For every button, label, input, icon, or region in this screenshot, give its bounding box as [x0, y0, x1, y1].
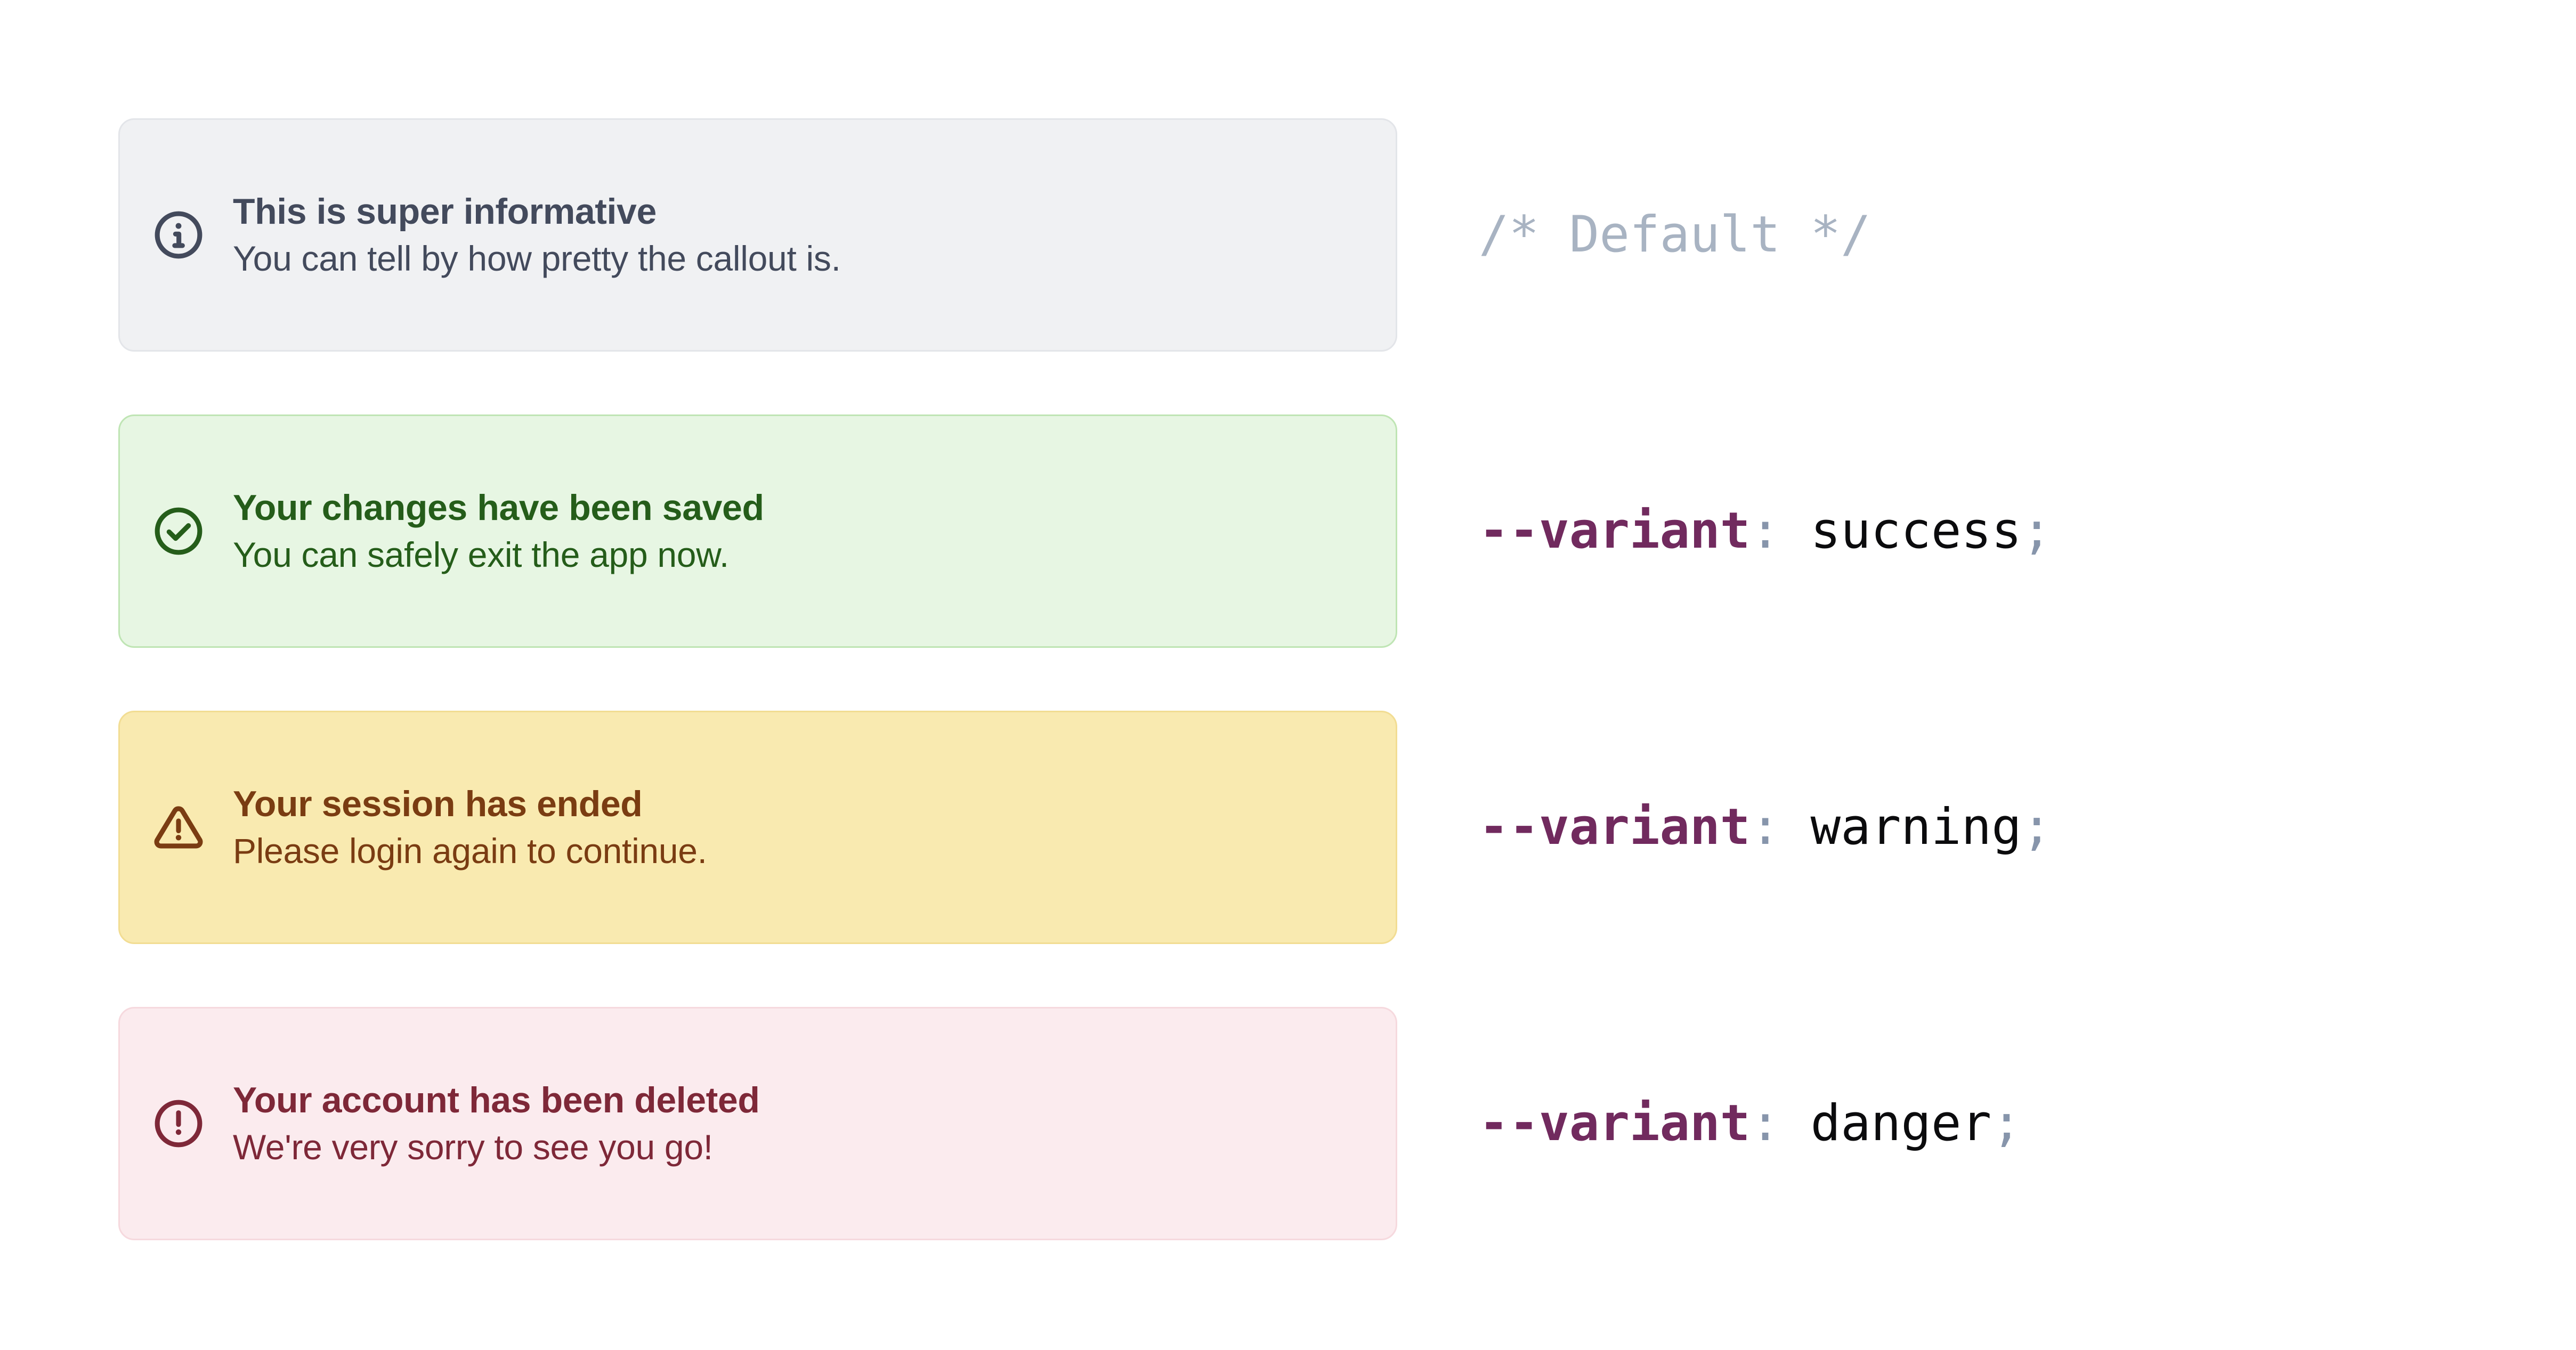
circle-check-icon [151, 503, 206, 559]
code-value: danger [1811, 1099, 1992, 1149]
callout-body: Your changes have been saved You can saf… [233, 486, 764, 576]
callout-description: Please login again to continue. [233, 829, 707, 873]
code-colon: : [1750, 1099, 1810, 1149]
circle-alert-icon [151, 1096, 206, 1151]
callout-warning: Your session has ended Please login agai… [118, 711, 1397, 944]
code-line-danger: --variant: danger; [1397, 1007, 2576, 1240]
triangle-alert-icon [151, 800, 206, 855]
code-property: --variant [1479, 506, 1750, 556]
callout-description: We're very sorry to see you go! [233, 1126, 759, 1169]
code-line-success: --variant: success; [1397, 414, 2576, 648]
callout-title: Your account has been deleted [233, 1078, 759, 1123]
code-colon: : [1750, 506, 1810, 556]
code-line-warning: --variant: warning; [1397, 711, 2576, 944]
code-semicolon: ; [2022, 506, 2052, 556]
callout-body: Your session has ended Please login agai… [233, 782, 707, 872]
info-circle-icon [151, 207, 206, 263]
callout-danger: Your account has been deleted We're very… [118, 1007, 1397, 1240]
callout-variants-stage: This is super informative You can tell b… [0, 0, 2576, 1350]
callout-title: Your session has ended [233, 782, 707, 826]
callout-body: This is super informative You can tell b… [233, 190, 841, 280]
code-semicolon: ; [1991, 1099, 2022, 1149]
callout-success: Your changes have been saved You can saf… [118, 414, 1397, 648]
callout-description: You can tell by how pretty the callout i… [233, 237, 841, 280]
code-semicolon: ; [2022, 802, 2052, 852]
code-value: warning [1811, 802, 2022, 852]
callout-body: Your account has been deleted We're very… [233, 1078, 759, 1168]
code-property: --variant [1479, 802, 1750, 852]
callout-description: You can safely exit the app now. [233, 533, 764, 576]
code-line-default: /* Default */ [1397, 118, 2576, 352]
code-property: --variant [1479, 1099, 1750, 1149]
code-value: success [1811, 506, 2022, 556]
callout-title: Your changes have been saved [233, 486, 764, 530]
callout-default: This is super informative You can tell b… [118, 118, 1397, 352]
callout-title: This is super informative [233, 190, 841, 234]
code-colon: : [1750, 802, 1810, 852]
code-comment: /* Default */ [1479, 210, 1871, 260]
